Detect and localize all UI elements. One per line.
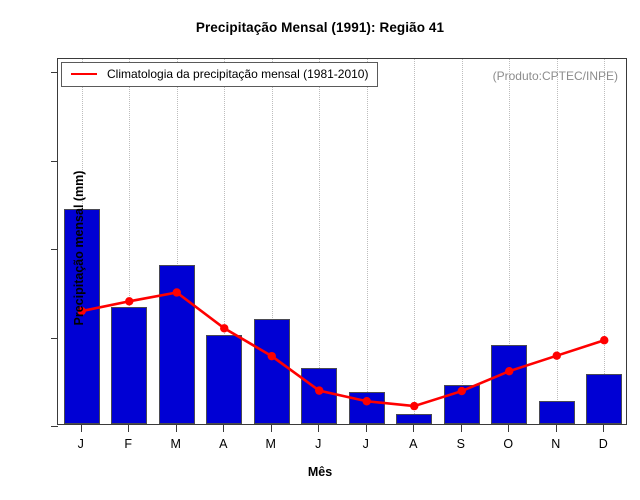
x-tick-label-0: J — [61, 437, 101, 451]
climatology-marker-a-7 — [410, 402, 418, 410]
climatology-marker-s-8 — [458, 387, 466, 395]
climatology-marker-d-11 — [600, 336, 608, 344]
precipitation-chart: Precipitação Mensal (1991): Região 41 Cl… — [0, 0, 640, 500]
climatology-polyline — [82, 292, 605, 406]
climatology-line-series — [58, 59, 626, 424]
x-tick-mark — [128, 425, 129, 432]
x-tick-mark — [176, 425, 177, 432]
source-annotation: (Produto:CPTEC/INPE) — [493, 69, 618, 83]
x-tick-label-11: D — [583, 437, 623, 451]
chart-legend: Climatologia da precipitação mensal (198… — [61, 62, 378, 87]
x-tick-label-5: J — [298, 437, 338, 451]
climatology-marker-o-9 — [505, 367, 513, 375]
x-tick-label-6: J — [346, 437, 386, 451]
x-tick-label-8: S — [441, 437, 481, 451]
x-tick-mark — [223, 425, 224, 432]
x-tick-mark — [271, 425, 272, 432]
y-tick-mark — [51, 249, 58, 250]
climatology-marker-m-2 — [173, 288, 181, 296]
x-tick-label-9: O — [488, 437, 528, 451]
x-tick-label-3: A — [203, 437, 243, 451]
climatology-marker-m-4 — [268, 352, 276, 360]
x-axis-title: Mês — [0, 465, 640, 479]
y-tick-mark — [51, 161, 58, 162]
chart-title: Precipitação Mensal (1991): Região 41 — [0, 20, 640, 35]
x-tick-mark — [508, 425, 509, 432]
climatology-marker-a-3 — [220, 324, 228, 332]
plot-area: Climatologia da precipitação mensal (198… — [57, 58, 627, 425]
x-tick-mark — [603, 425, 604, 432]
x-tick-mark — [556, 425, 557, 432]
climatology-marker-j-5 — [315, 386, 323, 394]
legend-line-swatch-climatology — [71, 73, 97, 75]
x-tick-label-7: A — [393, 437, 433, 451]
x-tick-label-4: M — [251, 437, 291, 451]
x-tick-mark — [318, 425, 319, 432]
y-axis-title: Precipitação mensal (mm) — [72, 108, 86, 388]
x-tick-mark — [81, 425, 82, 432]
x-tick-mark — [413, 425, 414, 432]
x-tick-mark — [461, 425, 462, 432]
climatology-marker-j-6 — [363, 397, 371, 405]
y-tick-mark — [51, 426, 58, 427]
legend-label-climatology: Climatologia da precipitação mensal (198… — [107, 68, 368, 80]
climatology-marker-f-1 — [125, 297, 133, 305]
x-tick-label-10: N — [536, 437, 576, 451]
x-tick-label-1: F — [108, 437, 148, 451]
plot-inner — [58, 59, 626, 424]
x-tick-label-2: M — [156, 437, 196, 451]
climatology-marker-n-10 — [553, 352, 561, 360]
y-tick-mark — [51, 72, 58, 73]
x-tick-mark — [366, 425, 367, 432]
y-tick-mark — [51, 338, 58, 339]
